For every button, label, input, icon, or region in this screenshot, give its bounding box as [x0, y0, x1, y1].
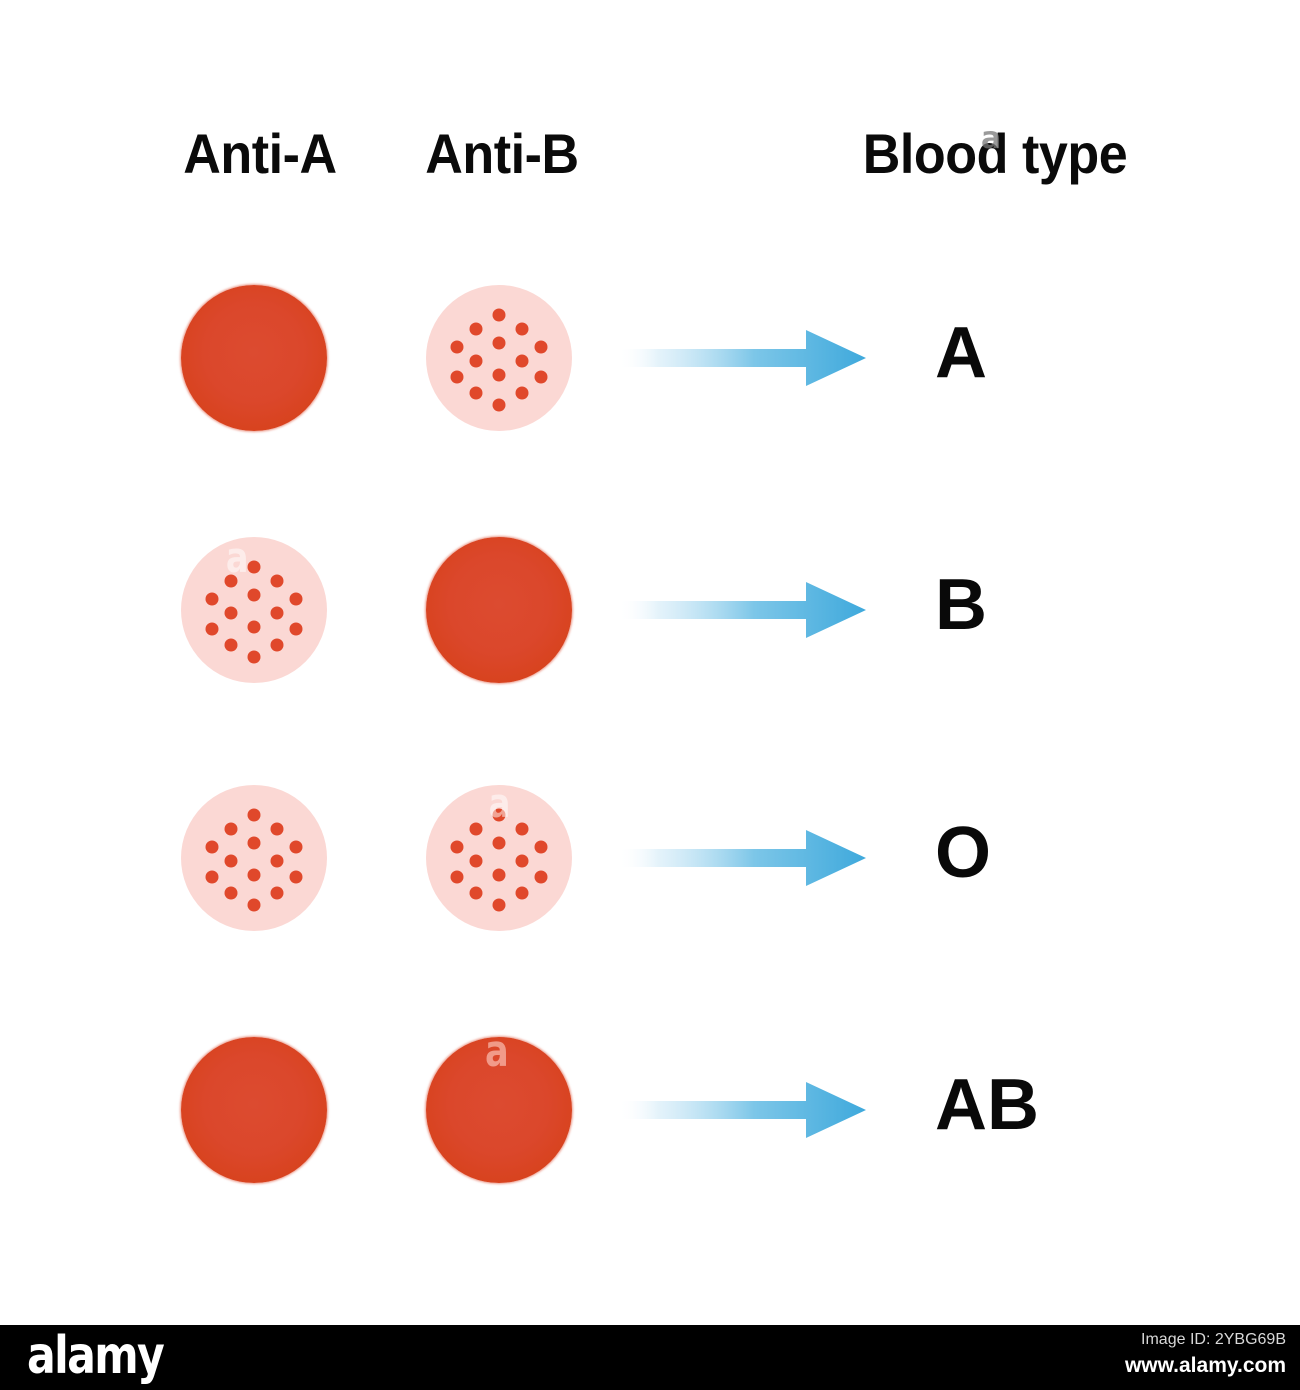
well-anti-a: a — [181, 537, 327, 683]
well-anti-b: a — [426, 1037, 572, 1183]
well-anti-a — [181, 785, 327, 931]
blood-type-result: A — [935, 294, 1165, 412]
result-row: a B — [0, 500, 1300, 750]
arrow-to-result — [618, 326, 866, 390]
image-id-label: Image ID: 2YBG69B — [966, 1328, 1286, 1352]
figure-canvas: Anti-A Anti-B Blood type a — [0, 0, 1300, 1390]
arrow-to-result — [618, 826, 866, 890]
result-row: a AB — [0, 1000, 1300, 1250]
alamy-url-label[interactable]: www.alamy.com — [966, 1352, 1286, 1380]
dispersed-cells-icon — [181, 785, 327, 931]
alamy-logo: alamy — [27, 1323, 163, 1389]
watermark-meta: Image ID: 2YBG69B www.alamy.com — [966, 1328, 1286, 1380]
dispersed-cells-icon — [181, 537, 327, 683]
well-anti-a — [181, 1037, 327, 1183]
dispersed-cells-icon — [426, 285, 572, 431]
arrow-right-icon — [618, 826, 866, 890]
dispersed-cells-icon — [426, 785, 572, 931]
column-header-anti-a: Anti-A — [130, 118, 390, 190]
arrow-right-icon — [618, 326, 866, 390]
column-header-anti-b: Anti-B — [372, 118, 632, 190]
column-header-row: Anti-A Anti-B Blood type a — [0, 118, 1300, 194]
column-header-blood-type: Blood type — [846, 118, 1144, 190]
blood-type-result: AB — [935, 1046, 1165, 1164]
arrow-right-icon — [618, 1078, 866, 1142]
well-anti-b — [426, 285, 572, 431]
arrow-to-result — [618, 578, 866, 642]
well-anti-b: a — [426, 785, 572, 931]
watermark-ghost-glyph: a — [485, 1025, 509, 1079]
stock-watermark-bar: alamy Image ID: 2YBG69B www.alamy.com — [0, 1325, 1300, 1390]
well-anti-a — [181, 285, 327, 431]
blood-type-result: B — [935, 546, 1165, 664]
result-row: a O — [0, 748, 1300, 998]
blood-type-result: O — [935, 794, 1165, 912]
well-anti-b — [426, 537, 572, 683]
arrow-to-result — [618, 1078, 866, 1142]
arrow-right-icon — [618, 578, 866, 642]
result-row: A — [0, 248, 1300, 498]
